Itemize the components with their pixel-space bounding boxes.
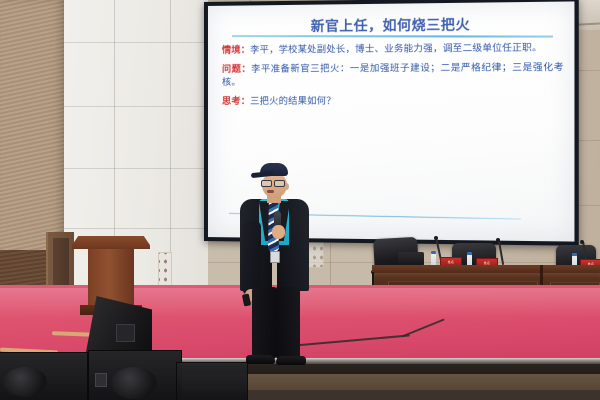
slide-title: 新官上任，如何烧三把火 xyxy=(222,12,564,36)
slide-keyword-reflection: 思考： xyxy=(222,95,250,105)
desk-microphone-head xyxy=(496,238,500,242)
presenter-mouth xyxy=(267,190,274,193)
bottle-cap xyxy=(572,253,577,256)
podium-top xyxy=(72,236,150,249)
slide-text-question: 李平准备新官三把火：一是加强班子建设；二是严格纪律；三是强化考核。 xyxy=(222,61,564,86)
front-speaker-center xyxy=(176,362,248,400)
slide-paragraph-reflection: 思考：三把火的结果如何？ xyxy=(222,94,564,108)
front-speaker-left xyxy=(0,352,88,400)
presenter-trouser-left xyxy=(252,287,276,359)
laptop-device[interactable] xyxy=(398,252,424,266)
slide-text-reflection: 三把火的结果如何？ xyxy=(250,95,336,105)
slide-paragraph-situation: 情境：李平，学校某处副处长，博士、业务能力强，调至二级单位任正职。 xyxy=(222,41,564,57)
presenter-shoe-right xyxy=(276,356,306,365)
presenter-shoe-left xyxy=(246,355,275,364)
slide-title-underline xyxy=(232,35,553,37)
slide-text-situation: 李平，学校某处副处长，博士、业务能力强，调至二级单位任正职。 xyxy=(250,42,542,54)
presenter-hand-right xyxy=(272,225,285,239)
desk-microphone-head xyxy=(580,240,584,244)
presenter-arm-left xyxy=(242,221,261,295)
front-speaker-right xyxy=(88,350,182,400)
presenter-trouser-right xyxy=(276,287,300,359)
lecture-hall-scene: 新官上任，如何烧三把火 情境：李平，学校某处副处长，博士、业务能力强，调至二级单… xyxy=(0,0,600,400)
presenter xyxy=(232,163,318,363)
slide-paragraph-question: 问题：李平准备新官三把火：一是加强班子建设；二是严格纪律；三是强化考核。 xyxy=(222,60,564,88)
slide-keyword-situation: 情境： xyxy=(222,44,250,54)
presenter-badge xyxy=(270,251,280,263)
bottle-cap xyxy=(467,252,472,255)
slide-keyword-question: 问题： xyxy=(222,63,251,73)
bottle-cap xyxy=(431,251,436,254)
desk-microphone-head xyxy=(434,236,438,240)
glasses-icon xyxy=(261,180,285,185)
